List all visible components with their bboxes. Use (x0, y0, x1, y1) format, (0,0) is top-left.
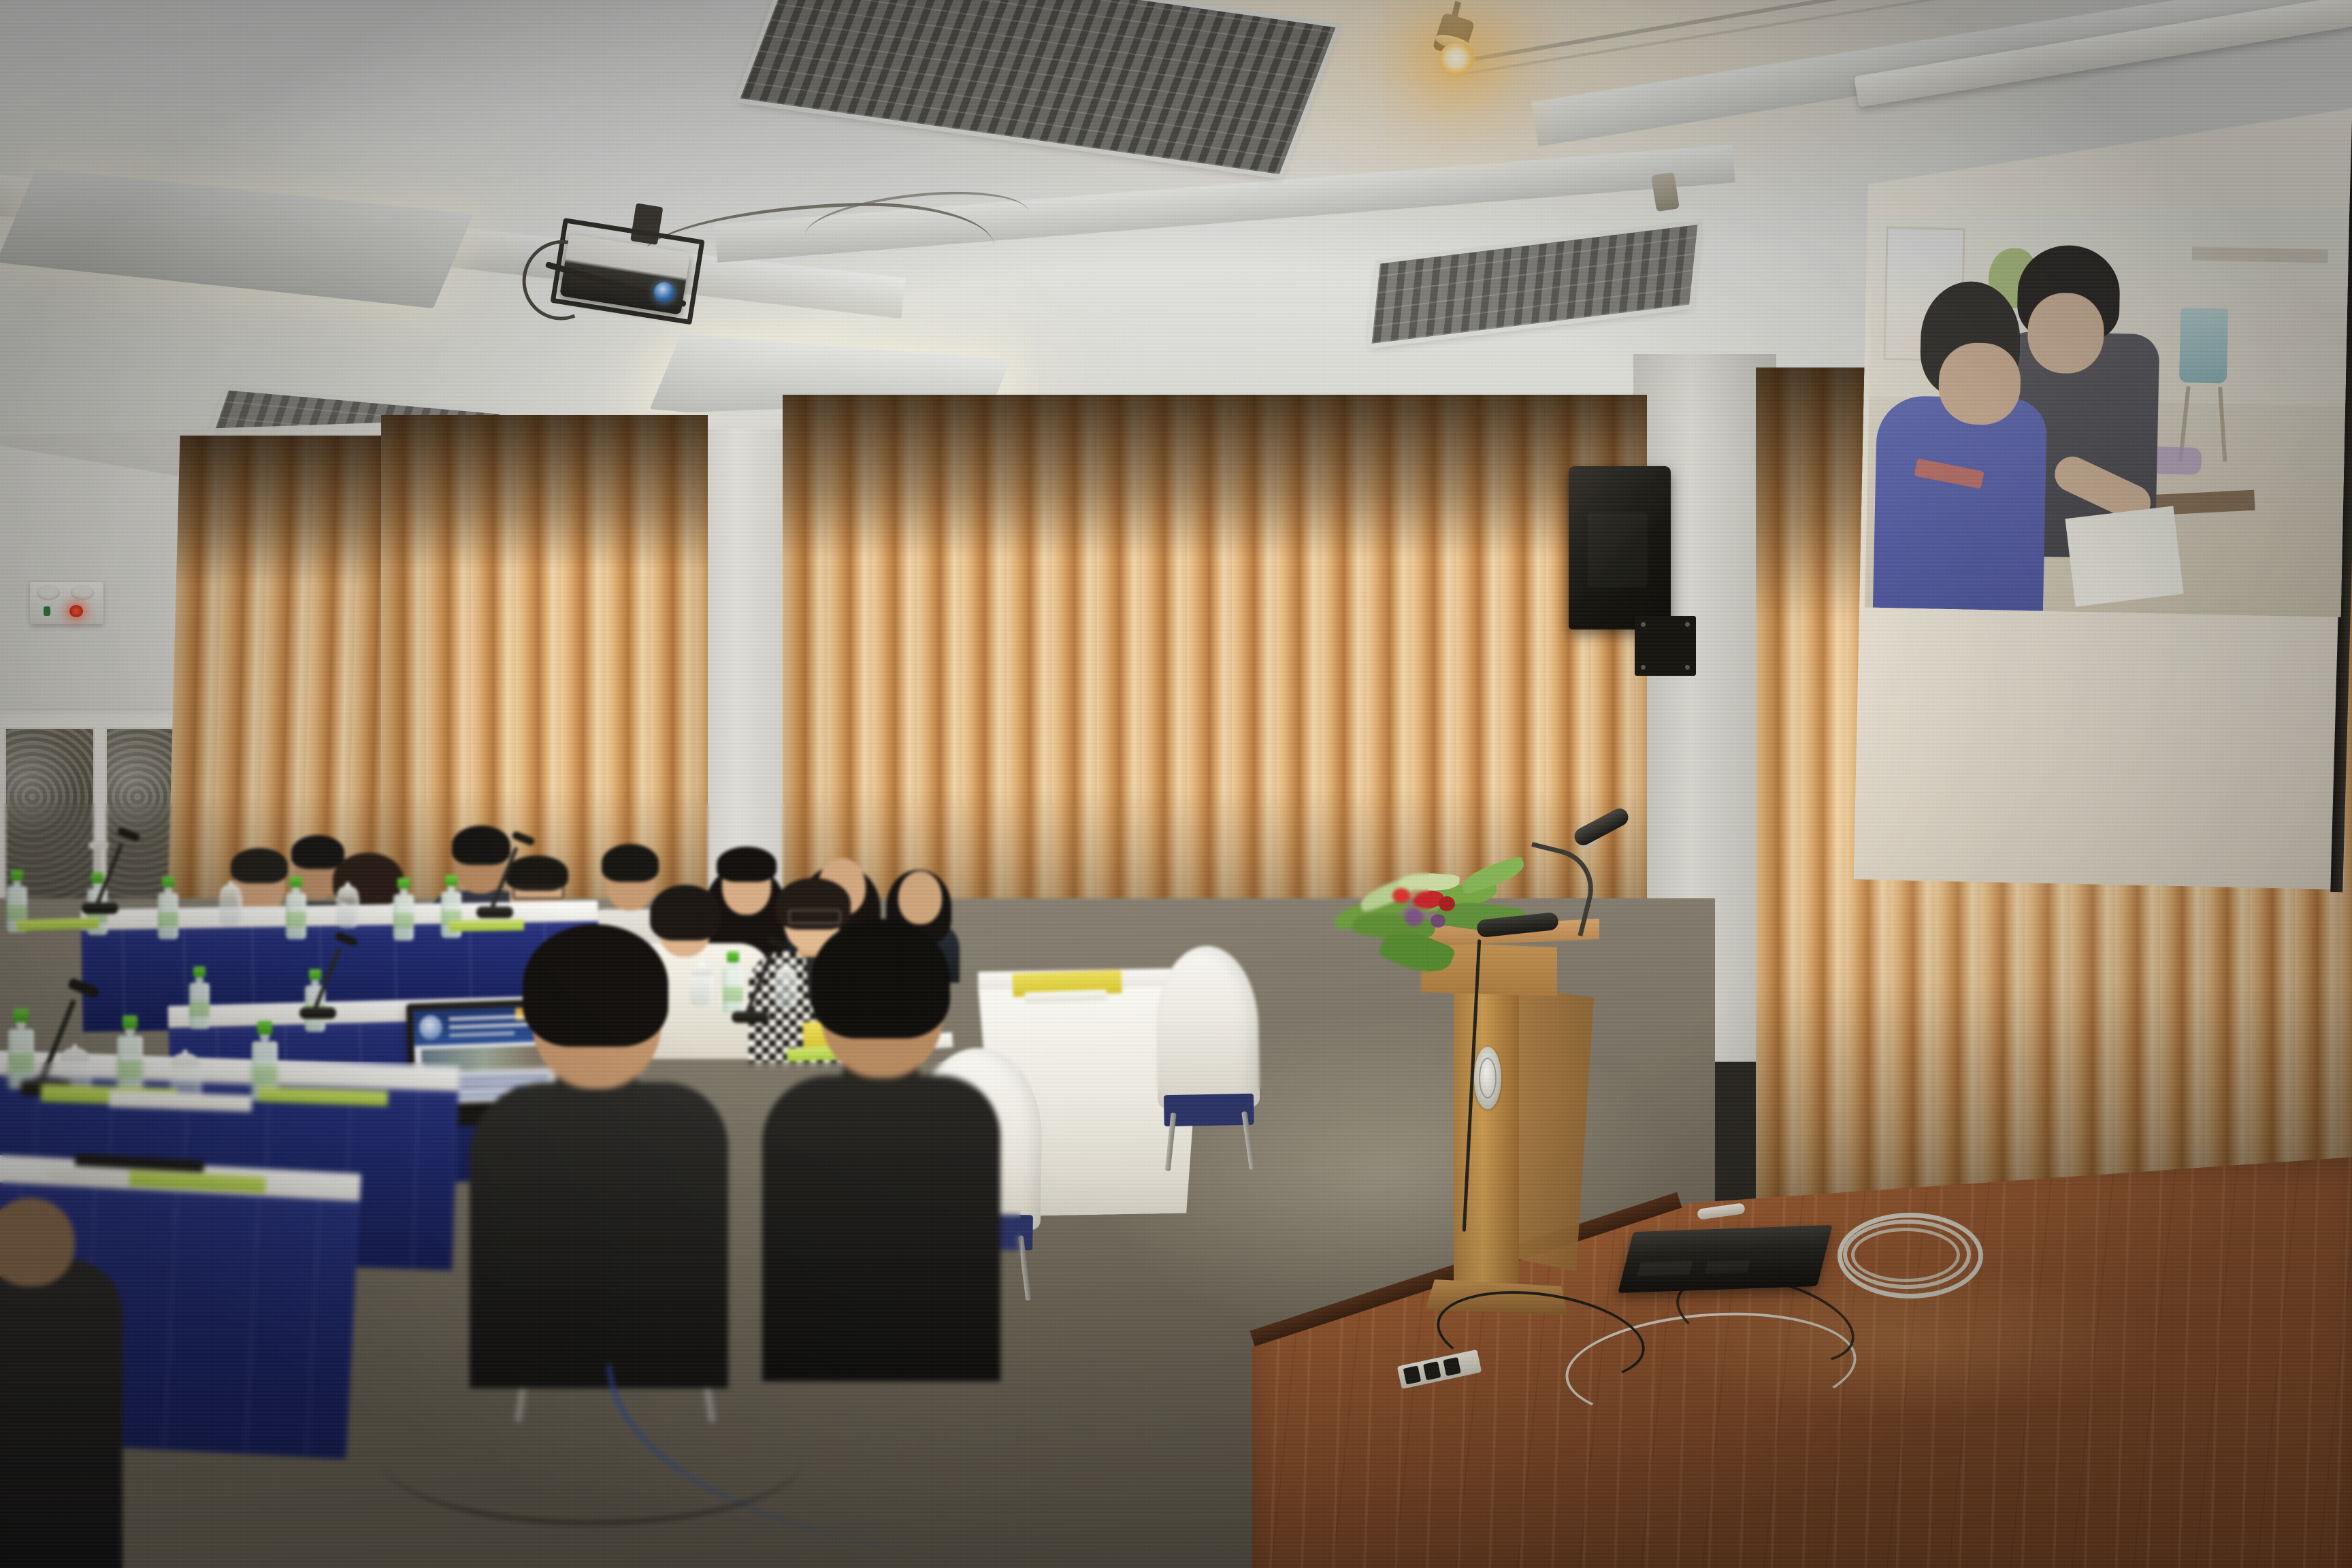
av-amplifier-box[interactable] (1618, 1225, 1832, 1293)
coiled-white-cable (1837, 1213, 1974, 1289)
attendee-foreground-edge-left (0, 1198, 122, 1568)
water-bottle[interactable] (393, 878, 414, 941)
ceiling-mounted-projector (529, 212, 709, 355)
projected-blue-bucket (2179, 308, 2228, 383)
projected-person-blue-shirt (1873, 280, 2050, 617)
pull-down-projection-screen[interactable] (1853, 97, 2352, 924)
covered-glass[interactable] (335, 886, 361, 928)
flower-purple-bloom (1431, 914, 1445, 928)
spotlight-bulb-glow (1439, 42, 1477, 78)
water-bottle[interactable] (189, 966, 210, 1029)
water-bottle[interactable] (286, 877, 306, 939)
projected-papers (2065, 506, 2183, 606)
lectern-emblem-seal (1474, 1047, 1501, 1109)
emergency-lamp-left (37, 585, 60, 600)
projected-slide-image (1865, 199, 2349, 618)
attendee-man-foreground-left (470, 912, 728, 1388)
desk-microphone[interactable] (299, 975, 361, 1022)
lectern-column (1454, 987, 1519, 1286)
emergency-status-led-red (69, 605, 83, 617)
banquet-chair-white-cover[interactable] (1155, 945, 1261, 1172)
attendee-man-foreground-right (762, 905, 1000, 1382)
desk-microphone[interactable] (82, 870, 143, 917)
flower-purple-bloom (1405, 909, 1424, 926)
projected-shelf (2192, 246, 2328, 263)
wall-mounted-speaker (1569, 466, 1671, 630)
water-bottle[interactable] (158, 877, 178, 939)
flower-red-bloom (1439, 896, 1455, 911)
speaker-mounting-bracket (1635, 616, 1696, 676)
conference-room-photograph: Conference room seminar session (0, 0, 2352, 1568)
lectern-side-wing (1511, 985, 1594, 1271)
covered-glass[interactable] (218, 885, 244, 927)
emergency-lamp-right (71, 585, 94, 600)
water-bottle[interactable] (117, 1015, 143, 1096)
microphone-gooseneck (1513, 842, 1601, 936)
emergency-status-led-green (44, 606, 50, 616)
flower-red-bloom (1392, 888, 1410, 903)
lectern-gooseneck-microphone[interactable] (1477, 823, 1613, 946)
track-spotlight (1422, 7, 1504, 82)
black-floor-cable (381, 1392, 803, 1524)
emergency-light-unit (30, 582, 103, 624)
